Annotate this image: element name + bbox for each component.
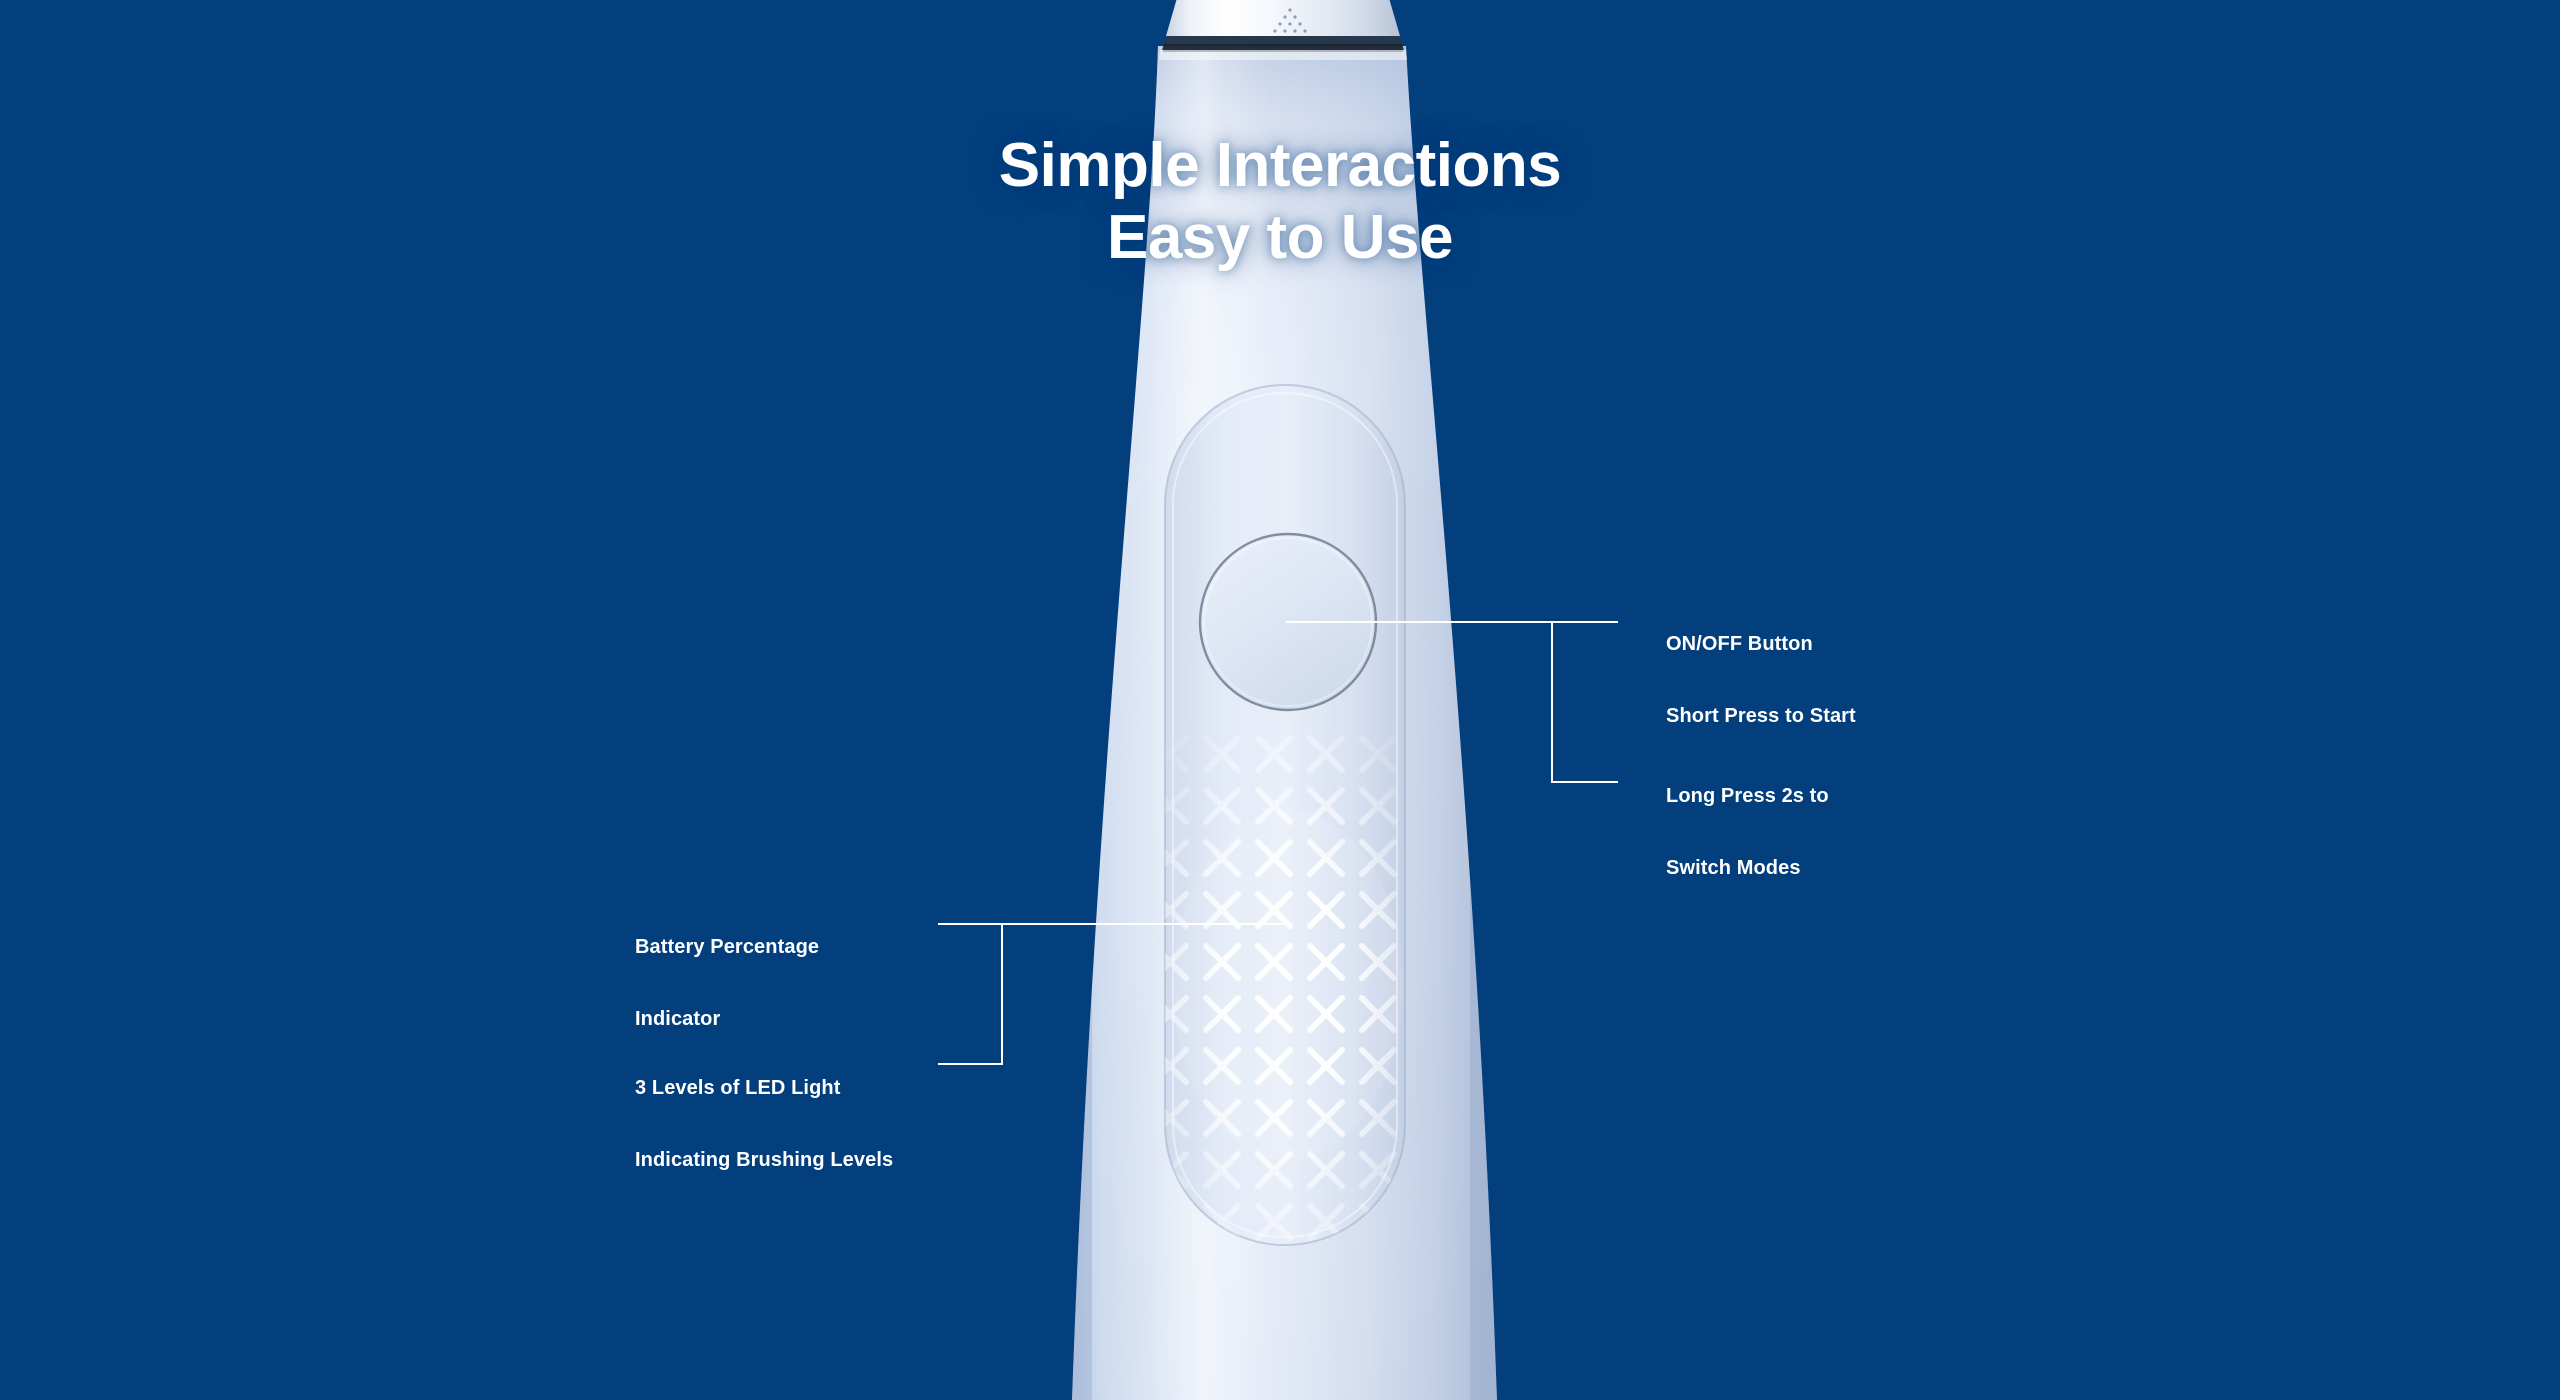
callout-led-levels: 3 Levels of LED Light Indicating Brushin… bbox=[635, 1034, 893, 1214]
leader-long-press bbox=[1552, 622, 1618, 782]
callout-long-press-line-1: Long Press 2s to bbox=[1666, 778, 1829, 814]
callout-battery-line-1: Battery Percentage bbox=[635, 929, 819, 965]
callout-long-press: Long Press 2s to Switch Modes bbox=[1666, 742, 1829, 922]
product-feature-slide: Simple Interactions Easy to Use ON/OFF B… bbox=[0, 0, 2560, 1400]
callout-long-press-line-2: Switch Modes bbox=[1666, 850, 1829, 886]
headline-line-2: Easy to Use bbox=[0, 202, 2560, 274]
callout-battery-line-2: Indicator bbox=[635, 1001, 819, 1037]
callout-on-off-line-1: ON/OFF Button bbox=[1666, 626, 1856, 662]
headline-line-1: Simple Interactions bbox=[999, 131, 1561, 200]
page-title: Simple Interactions Easy to Use bbox=[0, 58, 2560, 346]
callout-led-line-1: 3 Levels of LED Light bbox=[635, 1070, 893, 1106]
leader-led-levels bbox=[938, 924, 1002, 1064]
callout-on-off-line-2: Short Press to Start bbox=[1666, 698, 1856, 734]
callout-led-line-2: Indicating Brushing Levels bbox=[635, 1142, 893, 1178]
